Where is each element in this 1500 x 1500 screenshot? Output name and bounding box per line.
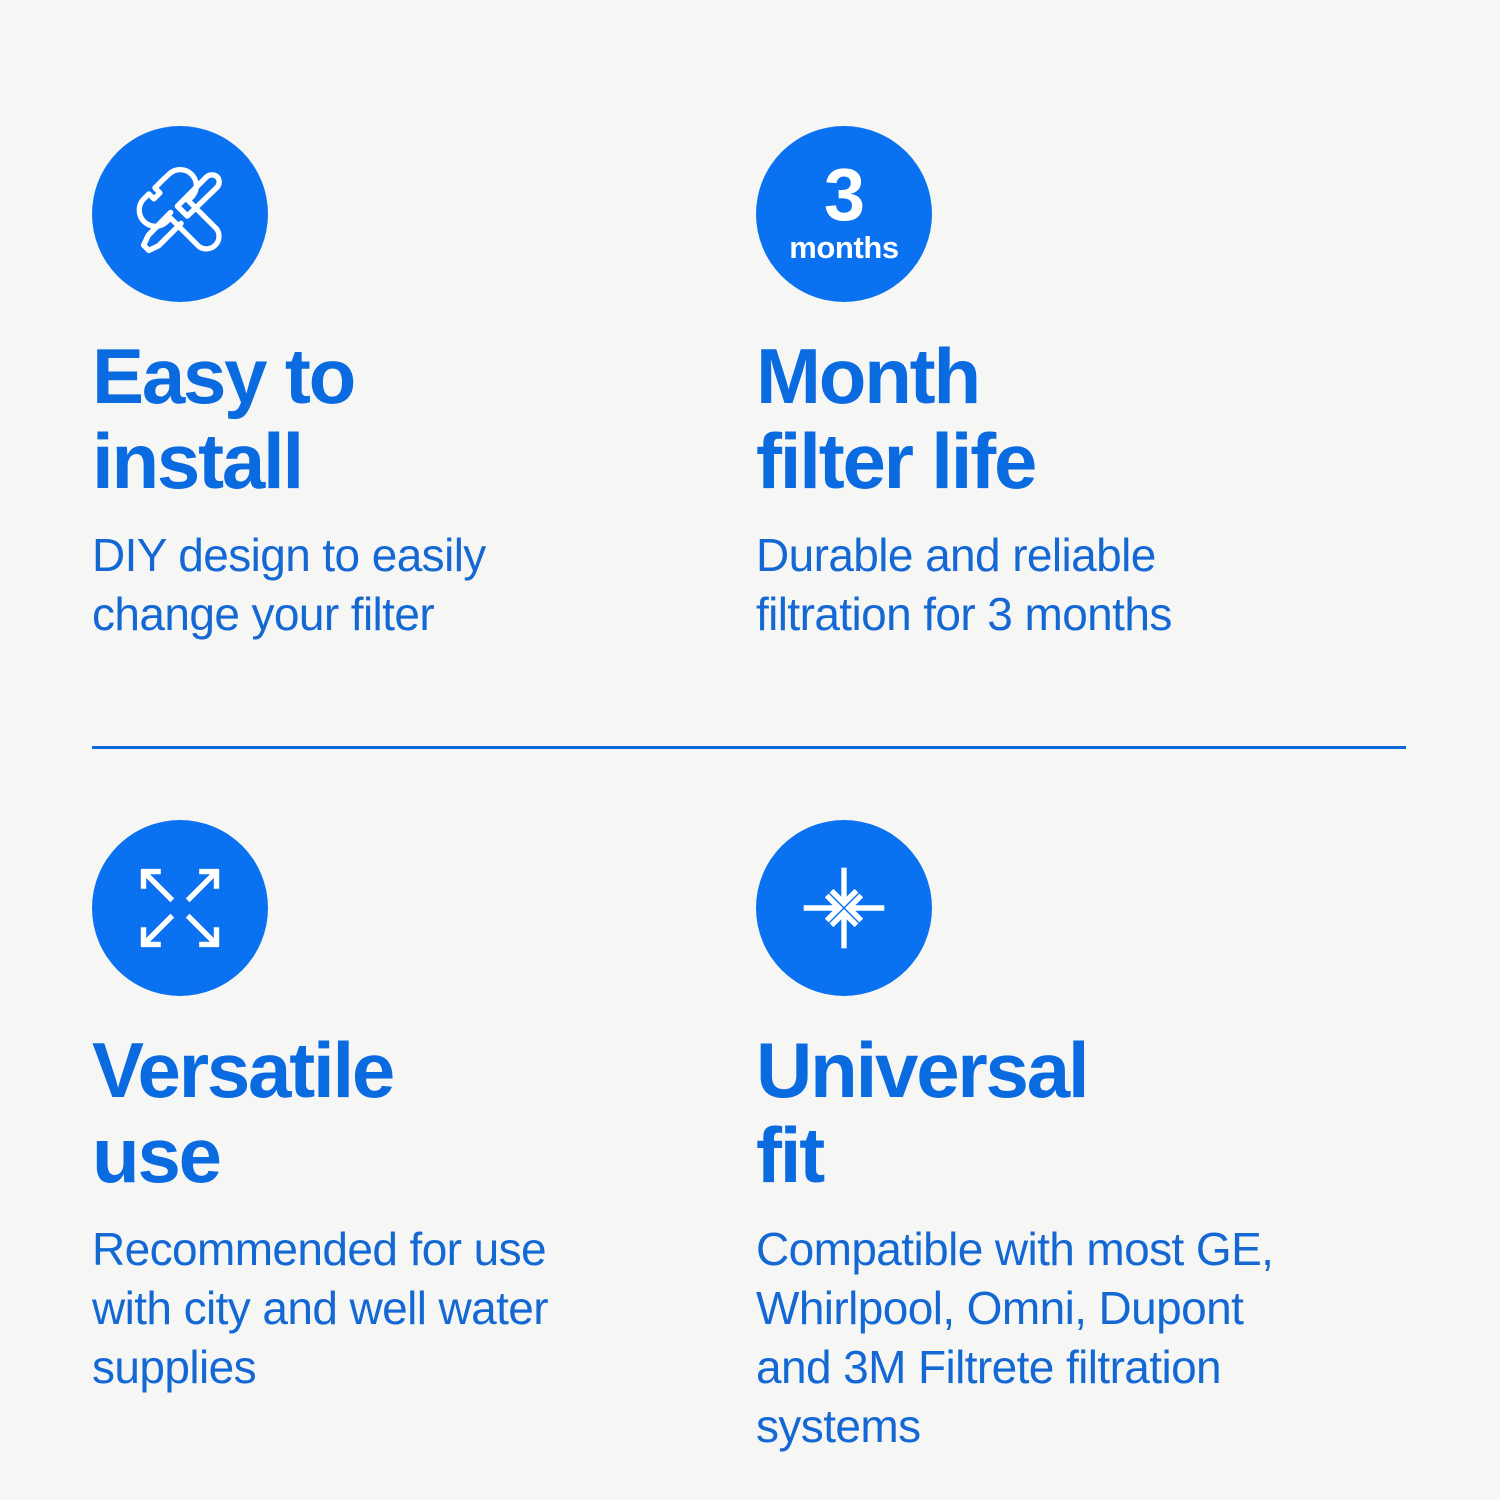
feature-body: Recommended for use with city and well w… (92, 1220, 680, 1397)
badge-unit: months (789, 232, 899, 263)
feature-body: Compatible with most GE, Whirlpool, Omni… (756, 1220, 1408, 1456)
feature-card-versatile-use: Versatile use Recommended for use with c… (92, 820, 750, 1456)
wrench-screwdriver-icon (128, 162, 232, 266)
feature-heading: Versatile use (92, 1028, 680, 1198)
expand-arrows-icon (132, 860, 228, 956)
converge-arrows-icon-badge (756, 820, 932, 996)
section-divider (92, 746, 1406, 749)
feature-body: DIY design to easily change your filter (92, 526, 680, 644)
feature-card-universal-fit: Universal fit Compatible with most GE, W… (750, 820, 1408, 1456)
feature-heading: Easy to install (92, 334, 680, 504)
feature-row-top: Easy to install DIY design to easily cha… (92, 126, 1408, 644)
badge-number: 3 (824, 161, 864, 229)
three-months-badge: 3 months (756, 126, 932, 302)
feature-heading: Month filter life (756, 334, 1408, 504)
feature-card-month-filter-life: 3 months Month filter life Durable and r… (750, 126, 1408, 644)
feature-grid-board: Easy to install DIY design to easily cha… (0, 0, 1500, 1500)
feature-card-easy-to-install: Easy to install DIY design to easily cha… (92, 126, 750, 644)
wrench-screwdriver-icon-badge (92, 126, 268, 302)
converge-arrows-icon (796, 860, 892, 956)
badge-text-group: 3 months (789, 161, 899, 262)
feature-row-bottom: Versatile use Recommended for use with c… (92, 820, 1408, 1456)
feature-body: Durable and reliable filtration for 3 mo… (756, 526, 1408, 644)
expand-arrows-icon-badge (92, 820, 268, 996)
feature-heading: Universal fit (756, 1028, 1408, 1198)
